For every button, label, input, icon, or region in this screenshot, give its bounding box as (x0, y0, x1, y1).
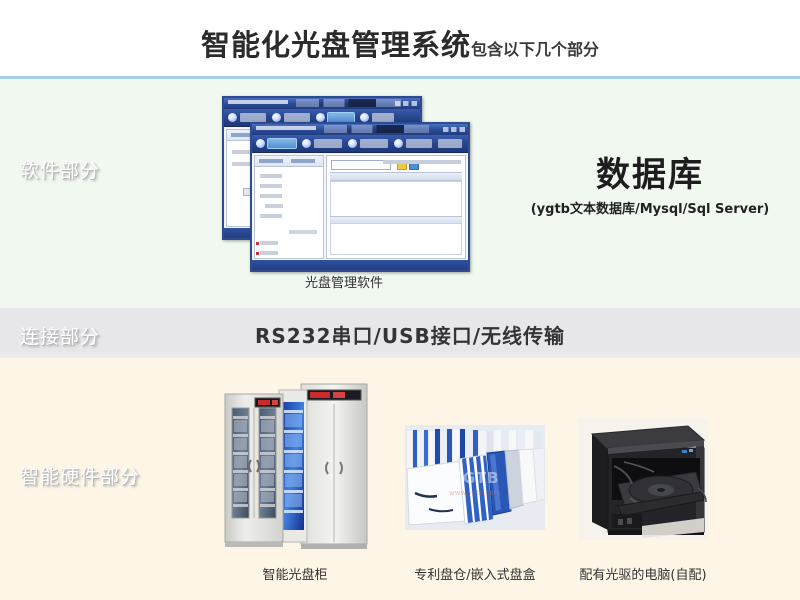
left-panel-tabs-front (255, 156, 323, 167)
window-controls-front (443, 127, 465, 132)
window-right-panel-front (326, 155, 466, 259)
app-window-front (250, 122, 470, 272)
database-block: 数据库 (ygtb文本数据库/Mysql/Sql Server) (500, 158, 800, 217)
row-label-connection: 连接部分 (20, 322, 100, 349)
toolbar-icon-4-back (360, 113, 369, 122)
toolbar-button-1-front (268, 139, 296, 148)
toolbar-button-3-front (360, 139, 388, 148)
database-subtitle: (ygtb文本数据库/Mysql/Sql Server) (500, 198, 800, 217)
page-title: 智能化光盘管理系统包含以下几个部分 (0, 22, 800, 64)
toolbar-icon-3-front (348, 139, 357, 148)
disc-magazine-caption: 专利盘仓/嵌入式盘盒 (395, 564, 555, 583)
window-left-panel-front (254, 155, 324, 259)
window-body-front (252, 153, 468, 271)
detail-table-body (330, 223, 462, 255)
row-label-software: 软件部分 (20, 156, 100, 183)
optical-drive-pc-illustration (578, 418, 708, 540)
toolbar-button-4-front (406, 139, 432, 148)
connection-text: RS232串口/USB接口/无线传输 (200, 320, 620, 349)
records-table-header (330, 172, 462, 181)
disc-magazine-illustration: YGTB www.ygtb.com (405, 425, 545, 530)
toolbar-button-2-front (314, 139, 342, 148)
toolbar-icon-3-back (316, 113, 325, 122)
toolbar-button-5-front (438, 139, 462, 148)
toolbar-icon-1-back (228, 113, 237, 122)
toolbar-icon-4-front (394, 139, 403, 148)
toolbar-button-3-back (328, 113, 354, 122)
records-search-input[interactable] (331, 160, 391, 170)
window-controls-back (395, 101, 417, 106)
svg-text:YGTB: YGTB (450, 469, 500, 487)
window-title-text-front (256, 126, 316, 130)
poster-root: 智能化光盘管理系统包含以下几个部分 软件部分 连接部分 智能硬件部分 (0, 0, 800, 600)
toolbar-icon-1-front (256, 139, 265, 148)
window-tabs-back (296, 99, 401, 107)
title-main: 智能化光盘管理系统 (201, 28, 471, 62)
svg-text:www.ygtb.com: www.ygtb.com (449, 489, 501, 497)
records-meta-text (383, 160, 461, 164)
window-tabs-front (324, 125, 429, 133)
toolbar-button-1-back (240, 113, 266, 122)
optical-drive-pc-caption: 配有光驱的电脑(自配) (563, 564, 723, 583)
window-toolbar-front (252, 135, 468, 153)
records-table-body (330, 181, 462, 218)
row-label-hardware: 智能硬件部分 (20, 462, 140, 489)
toolbar-icon-2-front (302, 139, 311, 148)
window-titlebar-back (224, 98, 420, 109)
disc-cabinet-illustration (215, 376, 375, 554)
title-sub: 包含以下几个部分 (471, 40, 599, 59)
window-titlebar-front (252, 124, 468, 135)
database-title: 数据库 (500, 158, 800, 194)
window-title-text-back (228, 100, 288, 104)
window-statusbar-front (252, 260, 468, 271)
toolbar-button-4-back (372, 113, 394, 122)
toolbar-button-2-back (284, 113, 310, 122)
disc-magazine-image: YGTB www.ygtb.com (405, 425, 545, 530)
toolbar-icon-2-back (272, 113, 281, 122)
disc-cabinet-image (215, 376, 375, 554)
software-screenshot (222, 96, 466, 268)
optical-drive-pc-image (578, 418, 708, 540)
disc-cabinet-caption: 智能光盘柜 (215, 564, 375, 583)
software-screenshot-caption: 光盘管理软件 (222, 272, 466, 291)
header: 智能化光盘管理系统包含以下几个部分 (0, 0, 800, 78)
